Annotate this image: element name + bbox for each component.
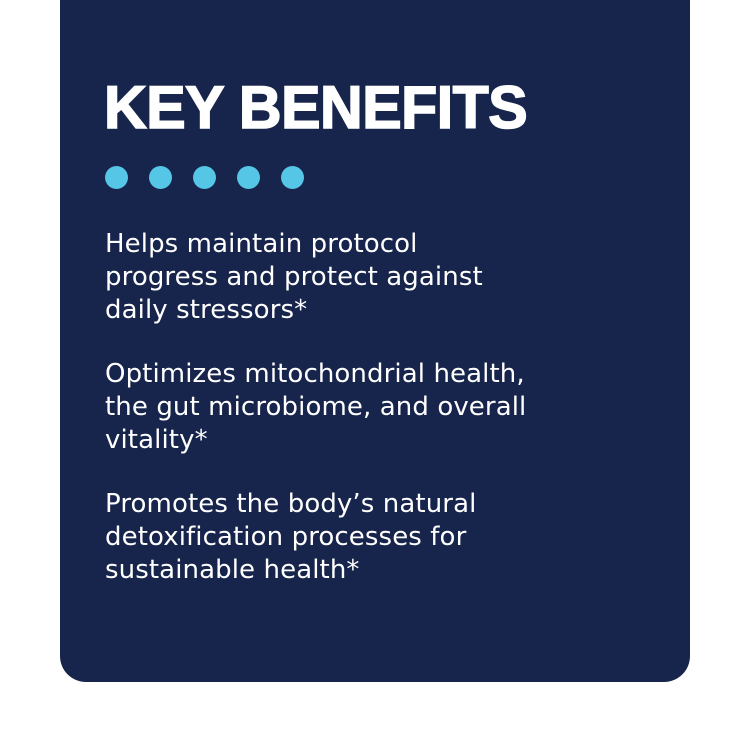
accent-dot-row xyxy=(105,166,304,189)
accent-dot-icon xyxy=(149,166,172,189)
key-benefits-card: KEY BENEFITS Helps maintain protocol pro… xyxy=(60,0,690,682)
list-item: Promotes the body’s natural detoxificati… xyxy=(105,488,665,587)
list-item: Helps maintain protocol progress and pro… xyxy=(105,228,665,327)
accent-dot-icon xyxy=(105,166,128,189)
page-title: KEY BENEFITS xyxy=(104,76,527,140)
accent-dot-icon xyxy=(193,166,216,189)
benefit-list: Helps maintain protocol progress and pro… xyxy=(105,228,665,587)
accent-dot-icon xyxy=(237,166,260,189)
list-item: Optimizes mitochondrial health, the gut … xyxy=(105,358,665,457)
page-root: KEY BENEFITS Helps maintain protocol pro… xyxy=(0,0,750,750)
accent-dot-icon xyxy=(281,166,304,189)
